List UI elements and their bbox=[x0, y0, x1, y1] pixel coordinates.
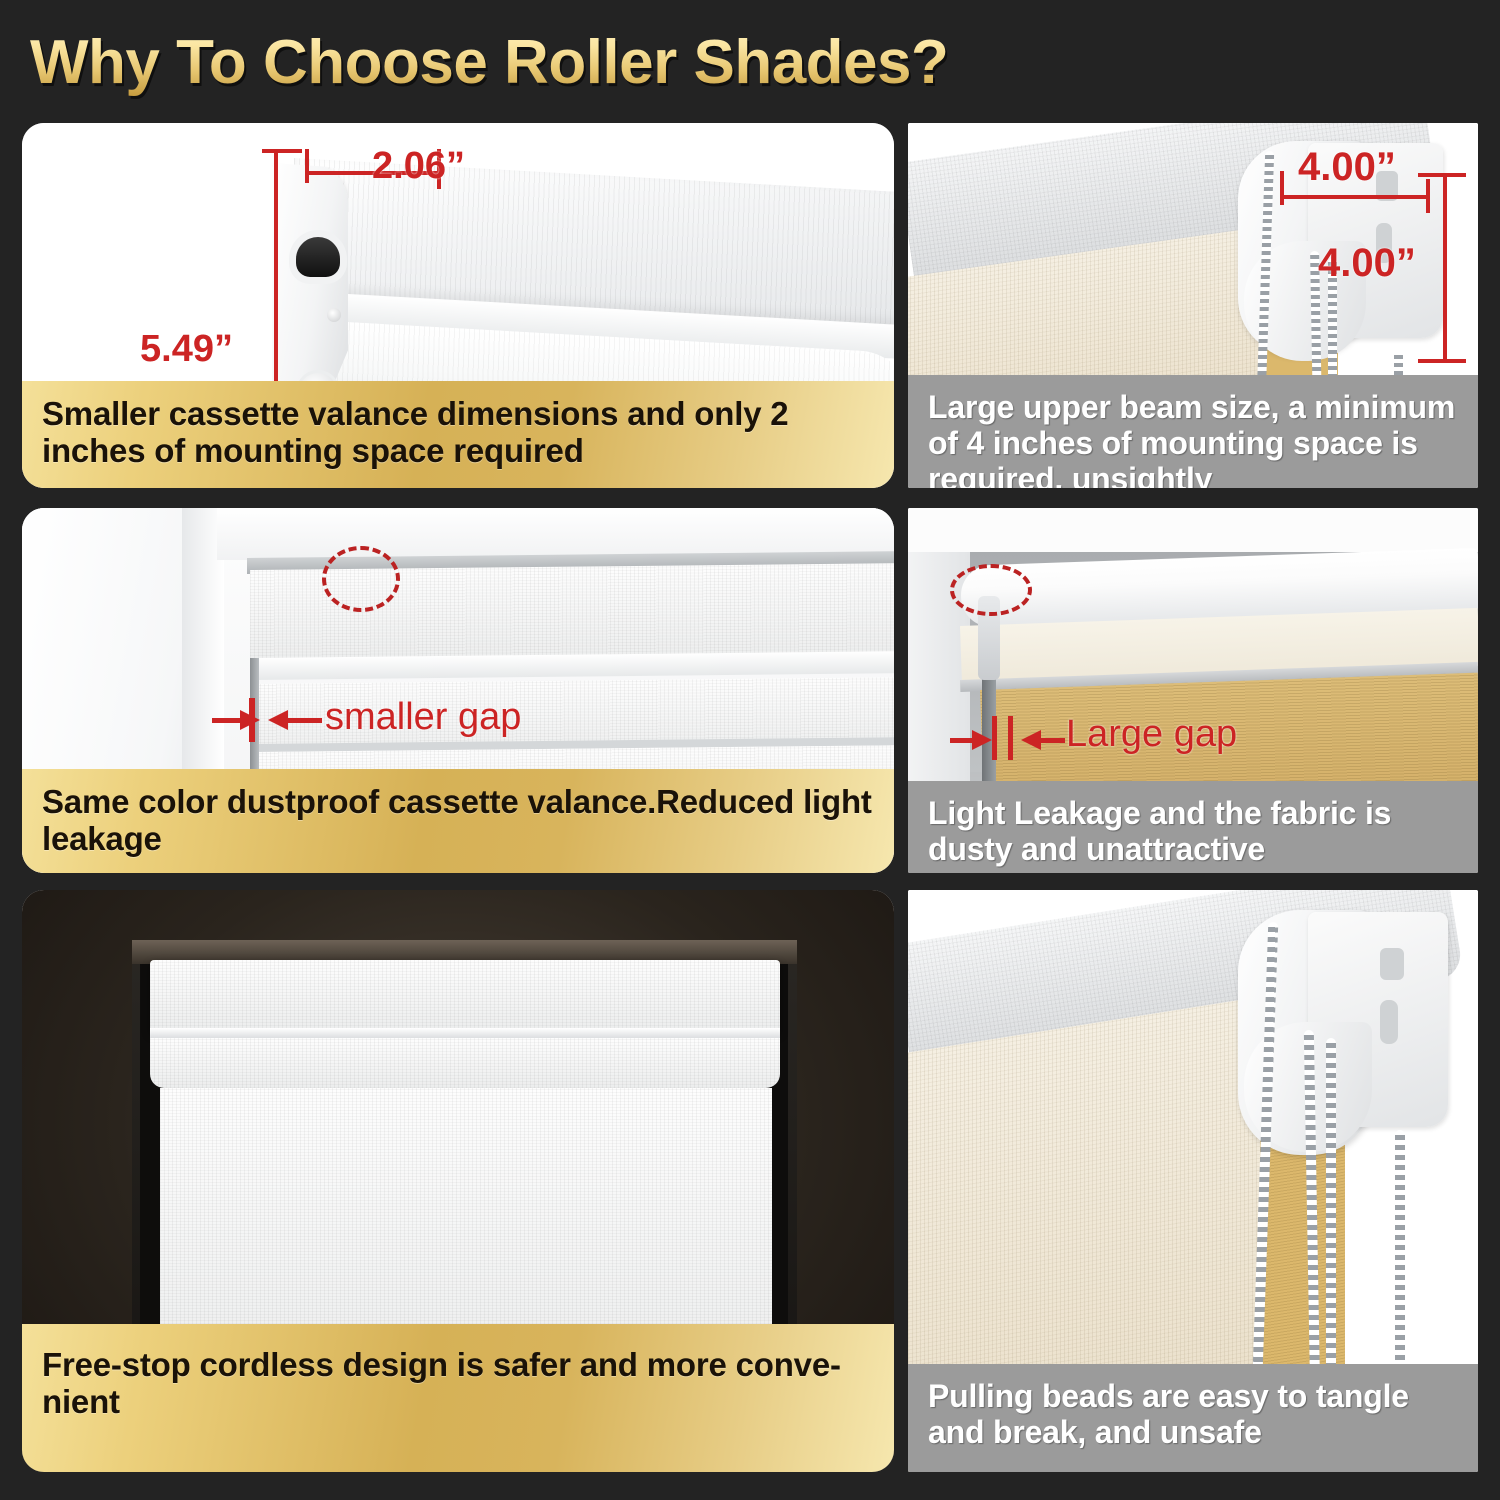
panel-free-stop-cordless: Free-stop cordless design is safer and m… bbox=[22, 890, 894, 1472]
panel-caption: Same color dustproof cassette valance.Re… bbox=[22, 769, 894, 873]
height-dimension-tick-bottom bbox=[1418, 359, 1466, 363]
panel-dustproof-cassette-valance: smaller gap Same color dustproof cassett… bbox=[22, 508, 894, 873]
panel-caption: Smaller cassette valance dimensions and … bbox=[22, 381, 894, 488]
panel-pulling-beads: Pulling beads are easy to tangle and bre… bbox=[908, 890, 1478, 1472]
width-dimension-label: 2.06” bbox=[372, 145, 465, 188]
height-dimension-tick-top bbox=[1418, 173, 1466, 177]
panel-large-upper-beam: 4.00” 4.00” Large upper beam size, a min… bbox=[908, 123, 1478, 488]
width-dimension-tick-left bbox=[305, 149, 309, 183]
panel-caption: Pulling beads are easy to tangle and bre… bbox=[908, 1364, 1478, 1472]
panel-caption: Light Leakage and the fabric is dusty an… bbox=[908, 781, 1478, 873]
width-dimension-label: 4.00” bbox=[1298, 145, 1396, 190]
infographic-root: Why To Choose Roller Shades? 2.06” bbox=[0, 0, 1500, 1500]
height-dimension-tick-top bbox=[262, 149, 302, 153]
height-dimension-label: 4.00” bbox=[1318, 241, 1416, 286]
panel-caption: Large upper beam size, a minimum of 4 in… bbox=[908, 375, 1478, 488]
highlight-circle bbox=[322, 546, 400, 612]
width-dimension-line bbox=[1280, 195, 1430, 199]
highlight-circle bbox=[950, 564, 1032, 616]
height-dimension-line bbox=[1443, 173, 1447, 363]
panel-caption: Free-stop cordless design is safer and m… bbox=[22, 1324, 894, 1472]
width-dimension-tick-right bbox=[1426, 179, 1430, 213]
height-dimension-label: 5.49” bbox=[140, 328, 233, 371]
panel-cassette-dimensions: 2.06” 5.49” Smaller cassette valance dim… bbox=[22, 123, 894, 488]
panel-light-leakage: Large gap Light Leakage and the fabric i… bbox=[908, 508, 1478, 873]
page-title: Why To Choose Roller Shades? bbox=[30, 22, 1130, 104]
width-dimension-tick-left bbox=[1280, 171, 1284, 205]
gap-label: Large gap bbox=[1066, 713, 1237, 756]
